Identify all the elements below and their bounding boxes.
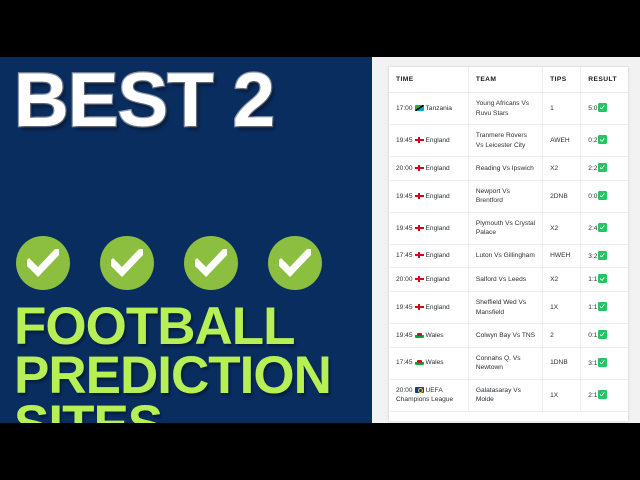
check-badge-1 (16, 236, 70, 290)
cell-tips: 1X (543, 379, 581, 411)
check-mark-icon (598, 135, 607, 144)
cell-tips: X2 (543, 268, 581, 292)
cell-tips: X2 (543, 212, 581, 244)
check-mark-icon (598, 103, 607, 112)
match-time: 19:45 (396, 332, 413, 339)
cell-time: 19:45England (389, 212, 468, 244)
table-row: 17:00TanzaniaYoung Africans Vs Ruvu Star… (389, 93, 628, 125)
score-value: 1:1 (588, 276, 597, 283)
cell-time: 19:45England (389, 292, 468, 324)
cell-time: 17:45Wales (389, 347, 468, 379)
cell-team: Luton Vs Gillingham (468, 244, 542, 268)
check-mark-icon (598, 358, 607, 367)
flag-icon-eng (415, 165, 424, 171)
cell-team: Connahs Q. Vs Newtown (468, 347, 542, 379)
table-body: 17:00TanzaniaYoung Africans Vs Ruvu Star… (389, 93, 628, 412)
table-row: 20:00EnglandSalford Vs LeedsX21:1 (389, 268, 628, 292)
cell-time: 17:45England (389, 244, 468, 268)
match-time: 17:45 (396, 359, 413, 366)
column-header-result: RESULT (581, 67, 628, 93)
country-label: England (426, 225, 450, 232)
flag-icon-wal (415, 359, 424, 365)
cell-team: Galatasaray Vs Molde (468, 379, 542, 411)
check-badge-row (16, 233, 356, 293)
score-value: 5:0 (588, 105, 597, 112)
check-mark-icon (598, 330, 607, 339)
predictions-table: TIME TEAM TIPS RESULT 17:00TanzaniaYoung… (389, 67, 628, 412)
cell-result: 2:4 (581, 212, 628, 244)
flag-icon-wal (415, 332, 424, 338)
match-time: 19:45 (396, 193, 413, 200)
flag-icon-eng (415, 225, 424, 231)
check-mark-icon (598, 274, 607, 283)
cell-time: 20:00England (389, 268, 468, 292)
cell-team: Reading Vs Ipswich (468, 157, 542, 181)
column-header-team: TEAM (468, 67, 542, 93)
table-row: 17:45WalesConnahs Q. Vs Newtown1DNB3:1 (389, 347, 628, 379)
check-icon (195, 249, 227, 277)
match-time: 20:00 (396, 387, 413, 394)
cell-result: 1:1 (581, 268, 628, 292)
table-row: 19:45EnglandTranmere Rovers Vs Leicester… (389, 125, 628, 157)
country-label: England (426, 252, 450, 259)
table-row: 17:45EnglandLuton Vs GillinghamHWEH3:2 (389, 244, 628, 268)
title-panel: BEST 2 FOOTBALL PREDICTION SITES (0, 57, 372, 423)
cell-result: 1:1 (581, 292, 628, 324)
score-value: 3:2 (588, 253, 597, 260)
cell-team: Young Africans Vs Ruvu Stars (468, 93, 542, 125)
flag-icon-eng (415, 137, 424, 143)
cell-tips: 1X (543, 292, 581, 324)
flag-icon-uefa (415, 387, 424, 393)
cell-time: 20:00UEFA Champions League (389, 379, 468, 411)
check-mark-icon (598, 251, 607, 260)
cell-result: 2:2 (581, 157, 628, 181)
page-title: BEST 2 (14, 63, 274, 139)
cell-result: 0:2 (581, 125, 628, 157)
country-label: England (426, 276, 450, 283)
match-time: 17:45 (396, 252, 413, 259)
cell-tips: X2 (543, 157, 581, 181)
score-value: 0:2 (588, 137, 597, 144)
check-icon (111, 249, 143, 277)
cell-time: 19:45England (389, 125, 468, 157)
table-header-row: TIME TEAM TIPS RESULT (389, 67, 628, 93)
match-time: 20:00 (396, 276, 413, 283)
cell-result: 3:1 (581, 347, 628, 379)
cell-result: 3:2 (581, 244, 628, 268)
table-row: 19:45EnglandNewport Vs Brentford2DNB0:0 (389, 180, 628, 212)
score-value: 1:1 (588, 304, 597, 311)
table-row: 20:00EnglandReading Vs IpswichX22:2 (389, 157, 628, 181)
cell-result: 5:0 (581, 93, 628, 125)
score-value: 2:2 (588, 165, 597, 172)
check-mark-icon (598, 191, 607, 200)
cell-tips: 2DNB (543, 180, 581, 212)
predictions-card: TIME TEAM TIPS RESULT 17:00TanzaniaYoung… (388, 66, 629, 421)
cell-team: Tranmere Rovers Vs Leicester City (468, 125, 542, 157)
country-label: Wales (426, 332, 444, 339)
country-label: England (426, 137, 450, 144)
cell-tips: HWEH (543, 244, 581, 268)
country-label: England (426, 304, 450, 311)
country-label: England (426, 193, 450, 200)
match-time: 19:45 (396, 225, 413, 232)
check-mark-icon (598, 223, 607, 232)
cell-team: Colwyn Bay Vs TNS (468, 324, 542, 348)
flag-icon-eng (415, 276, 424, 282)
check-mark-icon (598, 302, 607, 311)
match-time: 17:00 (396, 105, 413, 112)
cell-team: Salford Vs Leeds (468, 268, 542, 292)
cell-team: Newport Vs Brentford (468, 180, 542, 212)
check-mark-icon (598, 163, 607, 172)
subtitle-line-3: SITES (14, 398, 162, 423)
cell-result: 2:1 (581, 379, 628, 411)
check-badge-3 (184, 236, 238, 290)
flag-icon-tz (415, 105, 424, 111)
match-time: 20:00 (396, 165, 413, 172)
match-time: 19:45 (396, 137, 413, 144)
column-header-time: TIME (389, 67, 468, 93)
content-band: BEST 2 FOOTBALL PREDICTION SITES TIME TE… (0, 57, 640, 423)
country-label: Tanzania (426, 105, 452, 112)
check-badge-4 (268, 236, 322, 290)
column-header-tips: TIPS (543, 67, 581, 93)
flag-icon-eng (415, 304, 424, 310)
cell-tips: 1DNB (543, 347, 581, 379)
cell-tips: AWEH (543, 125, 581, 157)
cell-time: 19:45England (389, 180, 468, 212)
cell-team: Plymouth Vs Crystal Palace (468, 212, 542, 244)
cell-result: 0:0 (581, 180, 628, 212)
check-icon (279, 249, 311, 277)
table-row: 20:00UEFA Champions LeagueGalatasaray Vs… (389, 379, 628, 411)
country-label: Wales (426, 359, 444, 366)
flag-icon-eng (415, 252, 424, 258)
match-time: 19:45 (396, 304, 413, 311)
cell-result: 0:1 (581, 324, 628, 348)
cell-time: 17:00Tanzania (389, 93, 468, 125)
check-mark-icon (598, 390, 607, 399)
cell-tips: 1 (543, 93, 581, 125)
cell-tips: 2 (543, 324, 581, 348)
thumbnail-canvas: BEST 2 FOOTBALL PREDICTION SITES TIME TE… (0, 0, 640, 480)
cell-time: 19:45Wales (389, 324, 468, 348)
score-value: 2:1 (588, 392, 597, 399)
table-row: 19:45EnglandPlymouth Vs Crystal PalaceX2… (389, 212, 628, 244)
table-row: 19:45WalesColwyn Bay Vs TNS20:1 (389, 324, 628, 348)
cell-time: 20:00England (389, 157, 468, 181)
score-value: 0:0 (588, 193, 597, 200)
score-value: 0:1 (588, 332, 597, 339)
cell-team: Sheffield Wed Vs Mansfield (468, 292, 542, 324)
country-label: England (426, 165, 450, 172)
score-value: 2:4 (588, 225, 597, 232)
check-badge-2 (100, 236, 154, 290)
flag-icon-eng (415, 193, 424, 199)
check-icon (27, 249, 59, 277)
table-row: 19:45EnglandSheffield Wed Vs Mansfield1X… (389, 292, 628, 324)
score-value: 3:1 (588, 360, 597, 367)
